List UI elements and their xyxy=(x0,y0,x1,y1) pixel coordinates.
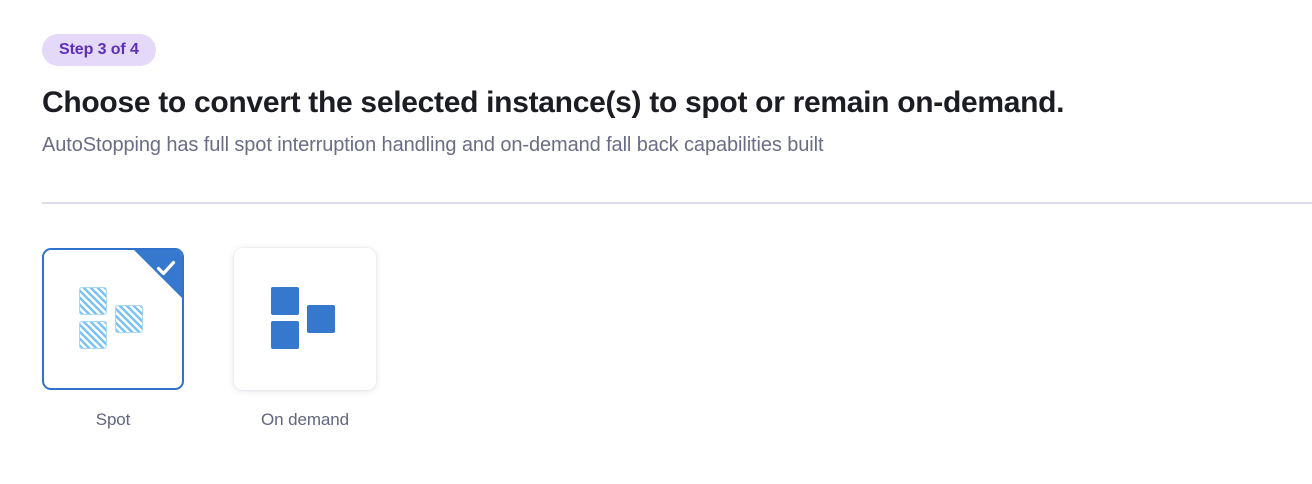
wizard-step-panel: Step 3 of 4 Choose to convert the select… xyxy=(0,0,1312,484)
page-title: Choose to convert the selected instance(… xyxy=(42,85,1312,121)
option-label-on-demand: On demand xyxy=(245,407,365,432)
solid-squares-icon xyxy=(269,287,341,351)
option-card-spot[interactable] xyxy=(42,248,184,390)
option-on-demand[interactable]: On demand xyxy=(234,248,376,432)
option-label-spot: Spot xyxy=(53,407,173,432)
check-icon xyxy=(154,256,178,280)
status-badge: Step 3 of 4 xyxy=(42,34,156,66)
divider xyxy=(42,202,1312,204)
instance-type-options: Spot On demand xyxy=(42,248,376,432)
option-spot[interactable]: Spot xyxy=(42,248,184,432)
option-card-on-demand[interactable] xyxy=(234,248,376,390)
striped-squares-icon xyxy=(77,287,149,351)
page-subtitle: AutoStopping has full spot interruption … xyxy=(42,132,1312,158)
